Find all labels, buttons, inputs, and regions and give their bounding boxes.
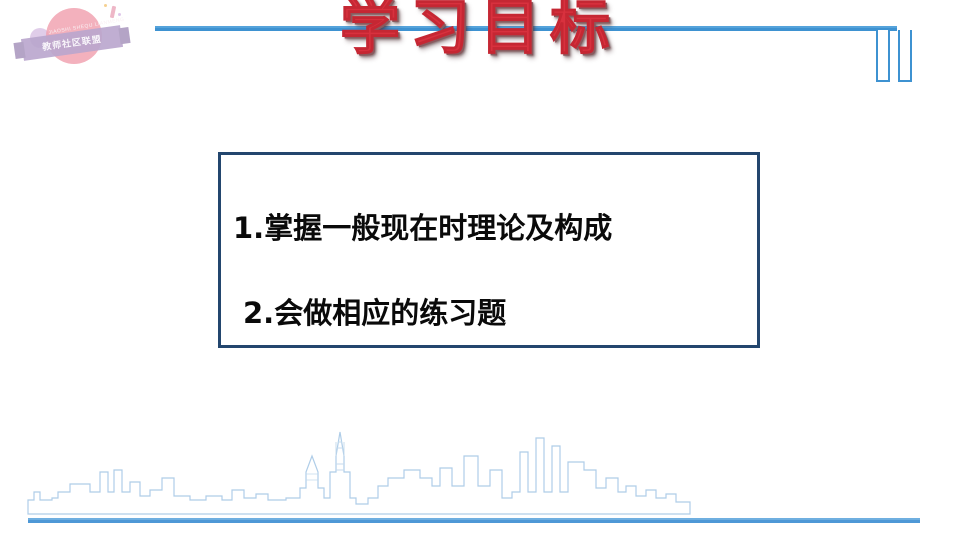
list-item: 2.会做相应的练习题 bbox=[243, 290, 506, 332]
slide-canvas: JIAOSHI SHEQU LIANMENG 教师社区联盟 学习目标 1.掌握一… bbox=[0, 0, 960, 540]
list-item: 1.掌握一般现在时理论及构成 bbox=[233, 205, 612, 247]
footer-accent-line bbox=[28, 518, 920, 523]
page-title: 学习目标 bbox=[0, 0, 960, 60]
objectives-box: 1.掌握一般现在时理论及构成 2.会做相应的练习题 bbox=[218, 152, 760, 348]
footer-accent-line-highlight bbox=[28, 518, 920, 520]
city-skyline-decoration bbox=[0, 412, 700, 522]
objectives-list: 1.掌握一般现在时理论及构成 2.会做相应的练习题 bbox=[221, 155, 757, 345]
